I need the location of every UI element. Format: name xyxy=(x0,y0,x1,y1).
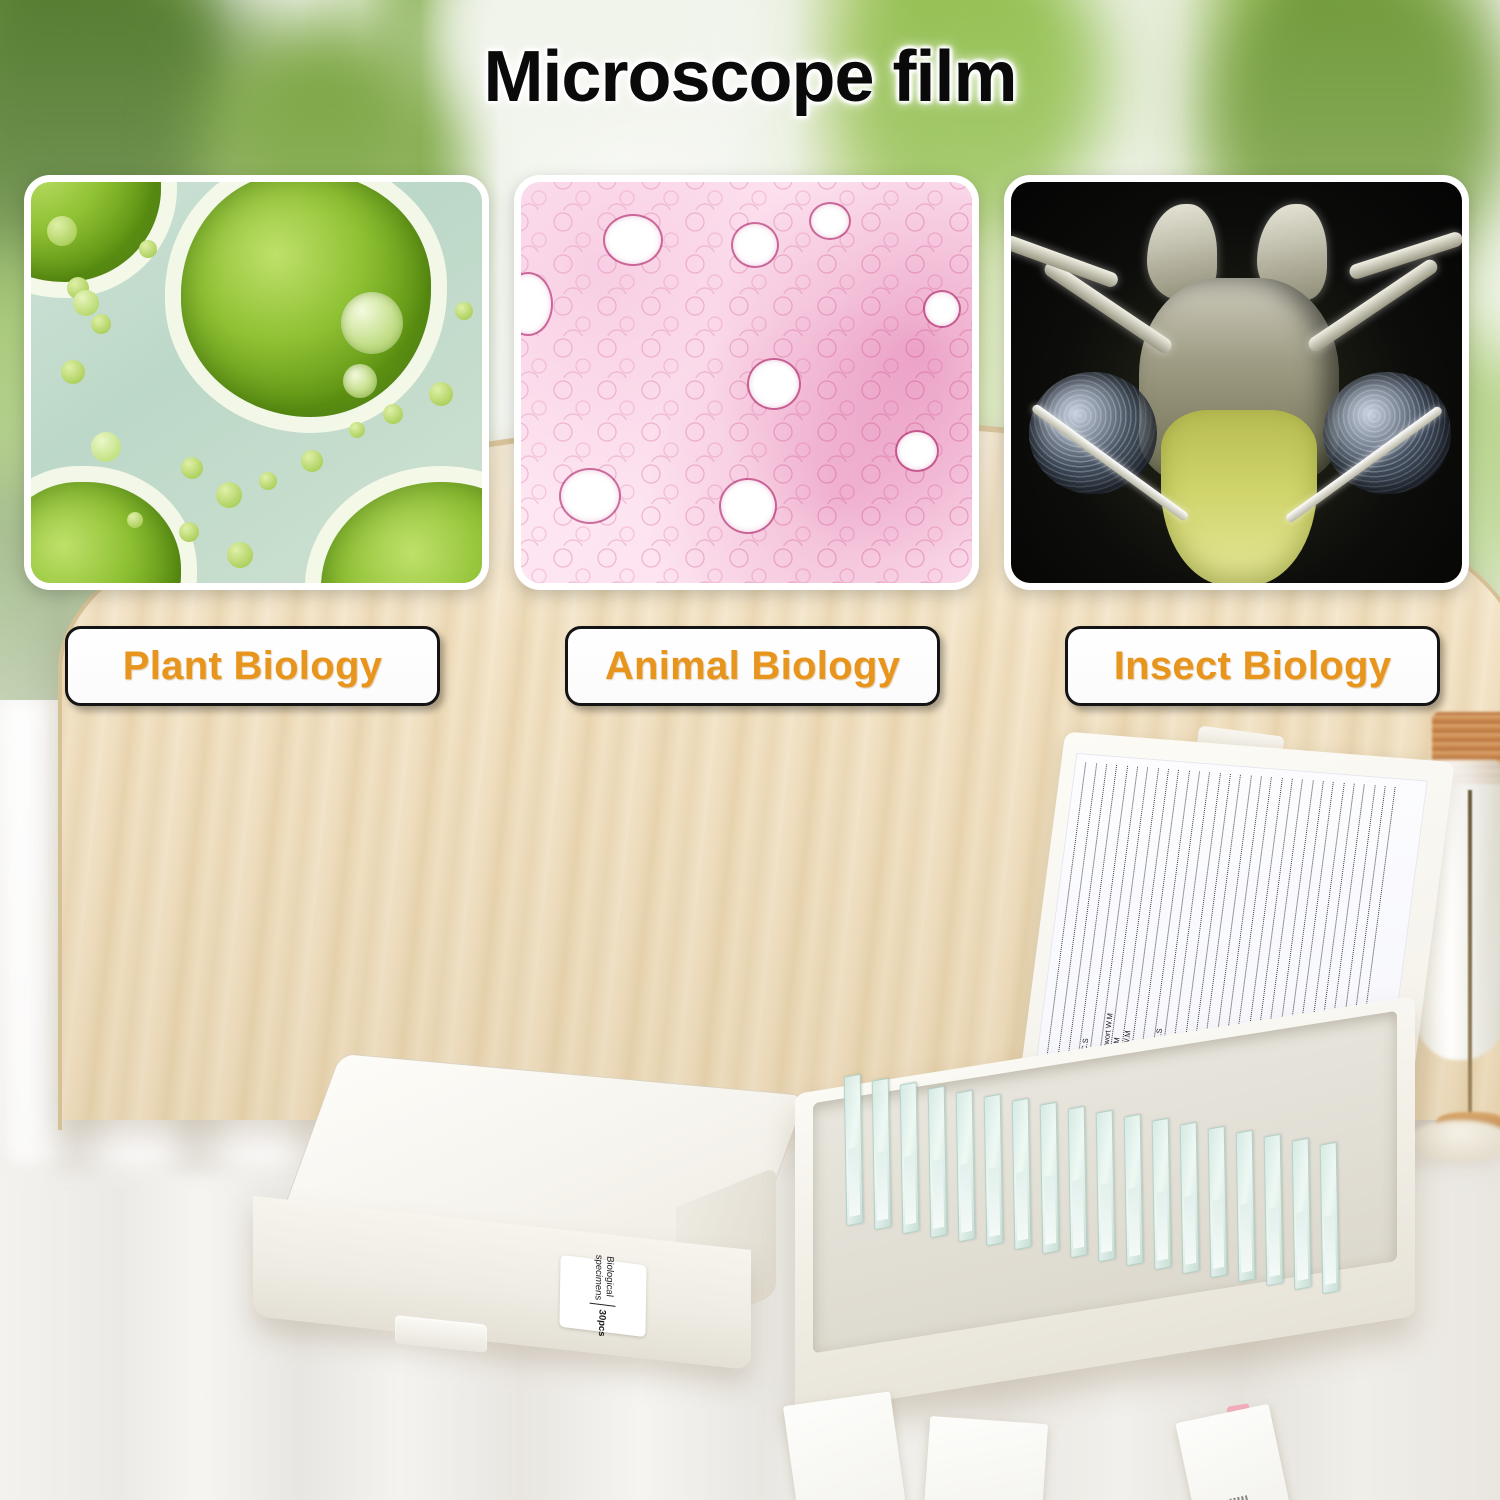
tissue-vacuole xyxy=(733,224,777,266)
algae-spore xyxy=(349,422,365,438)
algae-spore xyxy=(127,512,143,528)
algae-cell-large xyxy=(181,182,431,417)
algae-spore xyxy=(429,382,453,406)
glass-slide xyxy=(984,1094,1004,1247)
glass-slide xyxy=(844,1074,864,1227)
tissue-vacuole xyxy=(811,204,849,238)
algae-spore xyxy=(61,360,85,384)
insect-head-macro-image xyxy=(1011,182,1462,583)
insect-leg xyxy=(1348,230,1462,281)
algae-spore xyxy=(47,216,77,246)
specimen-image-animal xyxy=(521,182,972,583)
specimen-image-insect xyxy=(1011,182,1462,583)
glass-slide xyxy=(1096,1110,1116,1263)
glass-slide xyxy=(900,1082,920,1235)
slide-label-marking xyxy=(1227,1495,1255,1500)
glass-slide xyxy=(956,1090,976,1243)
algae-spore xyxy=(301,450,323,472)
tissue-vacuole xyxy=(721,480,775,532)
glass-slide xyxy=(1236,1130,1256,1283)
algae-spore xyxy=(179,522,199,542)
algae-spore xyxy=(181,457,203,479)
category-label-text: Animal Biology xyxy=(605,644,900,689)
tissue-vacuole xyxy=(561,470,619,522)
tissue-vacuole xyxy=(897,432,937,470)
box-label-count: 30pcs xyxy=(597,1309,608,1337)
glass-slide xyxy=(928,1086,948,1239)
glass-slide xyxy=(1180,1122,1200,1275)
specimen-card-animal xyxy=(514,175,979,590)
glass-slide xyxy=(872,1078,892,1231)
glass-slide xyxy=(1012,1098,1032,1251)
tissue-vacuole xyxy=(925,292,959,326)
algae-spore xyxy=(259,472,277,490)
glass-slide xyxy=(1208,1126,1228,1279)
algae-spore xyxy=(383,404,403,424)
label-divider xyxy=(590,1303,616,1307)
category-label-animal-biology[interactable]: Animal Biology xyxy=(565,626,940,706)
algae-spore xyxy=(73,290,99,316)
open-specimen-box: 1Radish root c.s2Fern Stem C.S3Letter 'e… xyxy=(795,745,1495,1465)
closed-specimen-box: Biological specimens 30pcs xyxy=(240,1075,800,1425)
glass-slide xyxy=(1264,1134,1284,1287)
glass-slide xyxy=(1152,1118,1172,1271)
pink-stained-tissue-image xyxy=(521,182,972,583)
insect-snout xyxy=(1161,410,1317,583)
glass-slide xyxy=(1292,1138,1312,1291)
insect-compound-eye-left xyxy=(1029,372,1157,494)
specimen-image-plant xyxy=(31,182,482,583)
algae-cell-large xyxy=(321,482,482,583)
box-label-line-2: specimens xyxy=(592,1254,604,1301)
algae-spore xyxy=(91,314,111,334)
box-product-label: Biological specimens 30pcs xyxy=(559,1255,646,1337)
glass-slide xyxy=(1068,1106,1088,1259)
tissue-vacuole xyxy=(749,360,799,408)
algae-cell-large xyxy=(31,482,181,583)
algae-spore xyxy=(216,482,242,508)
category-label-insect-biology[interactable]: Insect Biology xyxy=(1065,626,1440,706)
algae-vacuole xyxy=(341,292,403,354)
algae-spore xyxy=(227,542,253,568)
algae-spore xyxy=(455,302,473,320)
category-label-text: Plant Biology xyxy=(123,644,382,689)
loose-glass-slide xyxy=(920,1416,1048,1500)
glass-slide xyxy=(1040,1102,1060,1255)
glass-slide xyxy=(1320,1142,1340,1295)
category-label-text: Insect Biology xyxy=(1114,644,1392,689)
category-label-plant-biology[interactable]: Plant Biology xyxy=(65,626,440,706)
tissue-vacuole xyxy=(605,216,661,264)
specimen-card-plant xyxy=(24,175,489,590)
algae-vacuole xyxy=(343,364,377,398)
page-title: Microscope film xyxy=(0,36,1500,118)
green-algae-cells-image xyxy=(31,182,482,583)
algae-spore xyxy=(91,432,121,462)
box-label-line-1: Biological xyxy=(603,1255,615,1302)
glass-slide xyxy=(1124,1114,1144,1267)
algae-spore xyxy=(139,240,157,258)
specimen-card-insect xyxy=(1004,175,1469,590)
